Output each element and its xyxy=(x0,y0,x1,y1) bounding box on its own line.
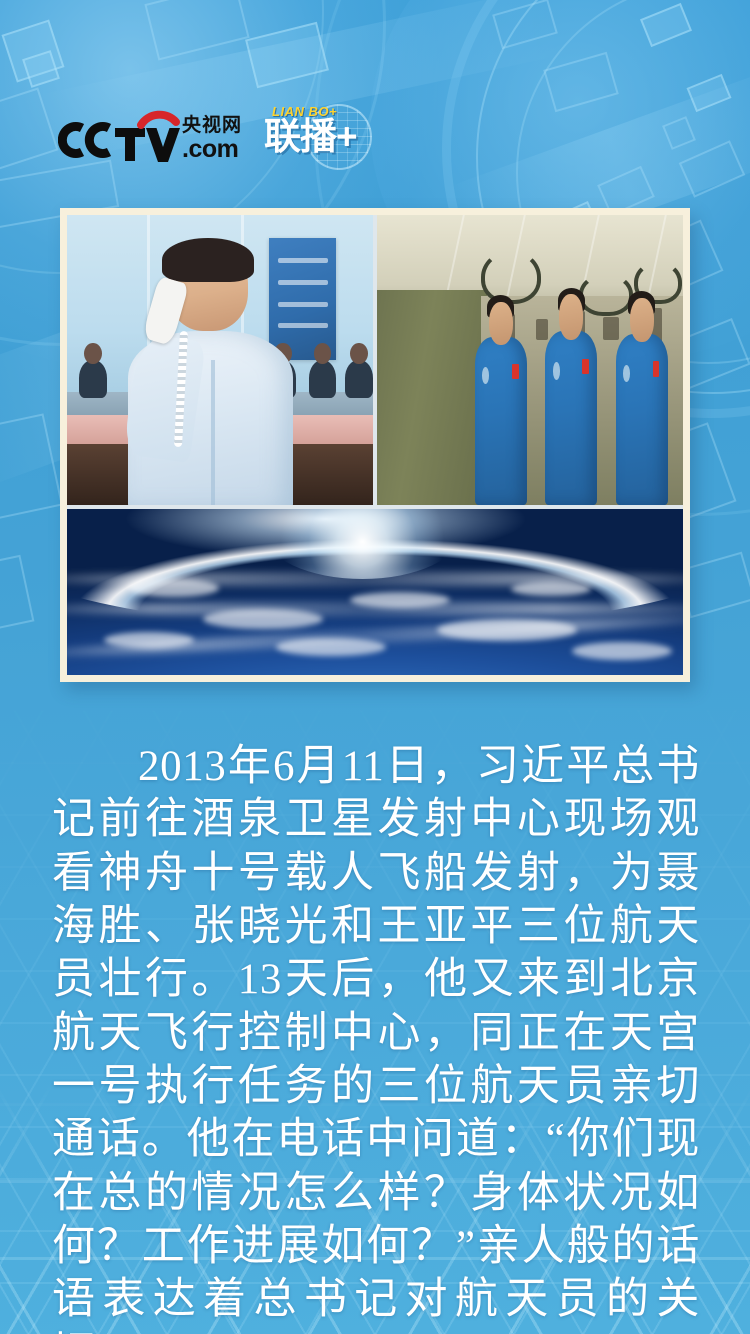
module-curtain xyxy=(377,290,487,505)
photo-grid xyxy=(67,215,683,675)
square-decoration xyxy=(1,19,64,82)
square-decoration xyxy=(687,74,732,112)
photo-earth xyxy=(67,509,683,675)
astronaut xyxy=(475,337,527,505)
photo-collage-card xyxy=(60,208,690,682)
square-decoration xyxy=(144,0,249,61)
square-decoration xyxy=(662,116,696,150)
cctv-chinese-label: 央视网 xyxy=(182,116,242,135)
lianbo-chinese-label: 联播+ xyxy=(264,118,357,155)
square-decoration xyxy=(0,413,63,520)
square-decoration xyxy=(679,140,746,197)
square-decoration xyxy=(640,3,692,47)
cctv-wordmark-icon xyxy=(58,108,180,162)
square-decoration xyxy=(22,50,60,88)
photo-phone-call xyxy=(67,215,373,505)
astronaut xyxy=(545,331,597,505)
cctv-domain-label: .com xyxy=(182,137,242,162)
cctv-logo[interactable]: 央视网 .com xyxy=(58,108,242,162)
lianbo-logo[interactable]: LIAN BO+ 联播+ xyxy=(262,102,374,168)
square-decoration xyxy=(543,52,619,112)
article-paragraph: 2013年6月11日，习近平总书记前往酒泉卫星发射中心现场观看神舟十号载人飞船发… xyxy=(52,740,700,1334)
photo-astronauts xyxy=(377,215,683,505)
square-decoration xyxy=(492,0,558,49)
article-body: 2013年6月11日，习近平总书记前往酒泉卫星发射中心现场观看神舟十号载人飞船发… xyxy=(52,740,700,1334)
square-decoration xyxy=(0,555,34,634)
header-logos: 央视网 .com LIAN BO+ 联播+ xyxy=(58,100,374,170)
poster-page: 央视网 .com LIAN BO+ 联播+ xyxy=(0,0,750,1334)
astronaut xyxy=(616,334,668,505)
square-decoration xyxy=(0,87,59,170)
cctv-text-block: 央视网 .com xyxy=(182,116,242,162)
wall-banner xyxy=(269,238,336,360)
square-decoration xyxy=(245,22,329,88)
